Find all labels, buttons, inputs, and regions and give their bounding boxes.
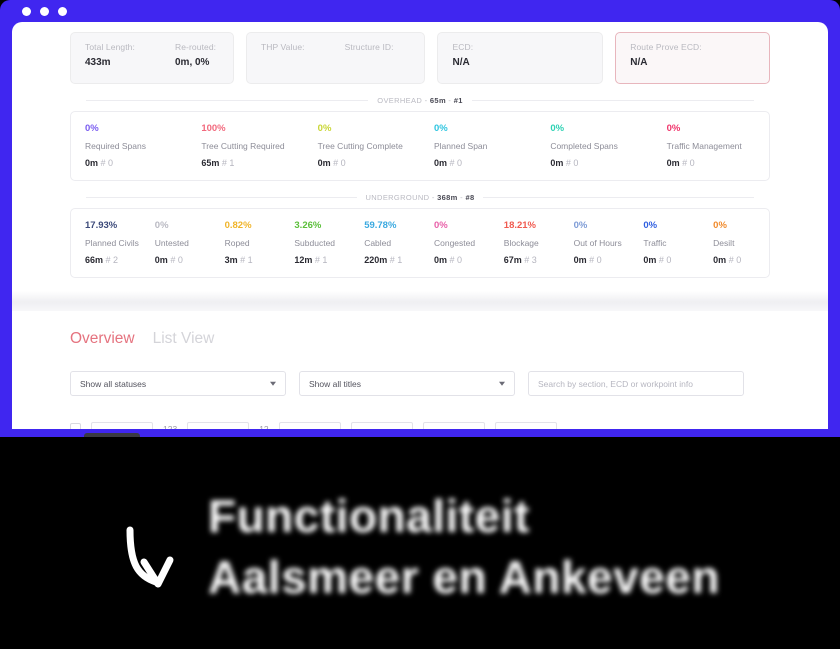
tooltip-title: WP2 xyxy=(88,436,136,437)
divider-line-left xyxy=(86,197,357,198)
search-input[interactable]: Search by section, ECD or workpoint info xyxy=(528,371,744,396)
status-filter-value: Show all statuses xyxy=(80,379,146,389)
stat-count: # 3 xyxy=(522,255,537,265)
stat-meta: 3m # 1 xyxy=(225,255,273,265)
stat-count: # 0 xyxy=(587,255,602,265)
stat-cell: 0%Untested0m # 0 xyxy=(141,220,211,265)
status-filter-select[interactable]: Show all statuses xyxy=(70,371,286,396)
thp-value-label: THP Value: xyxy=(261,42,305,52)
stat-length: 65m xyxy=(201,158,219,168)
ecd-card: ECD: N/A xyxy=(437,32,603,84)
stat-cell: 0%Planned Span0m # 0 xyxy=(420,123,536,168)
stat-meta: 0m # 0 xyxy=(667,158,761,168)
app-content: Total Length: 433m Re-routed: 0m, 0% THP… xyxy=(12,22,828,437)
ecd-value: N/A xyxy=(452,57,473,68)
stat-cell: 0%Out of Hours0m # 0 xyxy=(560,220,630,265)
route-prove-ecd-value: N/A xyxy=(630,57,702,68)
stat-label: Untested xyxy=(155,238,203,248)
stat-label: Congested xyxy=(434,238,482,248)
overhead-divider-prefix: OVERHEAD xyxy=(377,96,422,105)
structure-id-field: Structure ID: xyxy=(345,42,394,57)
stat-percentage: 0.82% xyxy=(225,220,273,231)
stat-meta: 0m # 0 xyxy=(550,158,644,168)
stat-meta: 0m # 0 xyxy=(318,158,412,168)
stat-cell: 0%Desilt0m # 0 xyxy=(699,220,769,265)
stat-count: # 1 xyxy=(238,255,253,265)
stat-percentage: 59.78% xyxy=(364,220,412,231)
stat-cell: 59.78%Cabled220m # 1 xyxy=(350,220,420,265)
window-titlebar xyxy=(0,0,840,22)
divider-line-right xyxy=(472,100,754,101)
stat-percentage: 0% xyxy=(85,123,179,134)
stat-cell: 0%Completed Spans0m # 0 xyxy=(536,123,652,168)
stat-length: 0m xyxy=(434,158,447,168)
stat-count: # 0 xyxy=(656,255,671,265)
stat-cell: 0%Required Spans0m # 0 xyxy=(71,123,187,168)
overhead-divider: OVERHEAD - 65m - #1 xyxy=(12,96,828,105)
stat-count: # 0 xyxy=(563,158,578,168)
maximize-dot-icon[interactable] xyxy=(58,7,67,16)
stat-percentage: 0% xyxy=(318,123,412,134)
stat-cell: 0%Tree Cutting Complete0m # 0 xyxy=(304,123,420,168)
stat-label: Cabled xyxy=(364,238,412,248)
route-prove-ecd-card[interactable]: Route Prove ECD: N/A xyxy=(615,32,770,84)
stat-cell: 0%Traffic Management0m # 0 xyxy=(653,123,769,168)
close-dot-icon[interactable] xyxy=(22,7,31,16)
structure-id-label: Structure ID: xyxy=(345,42,394,52)
route-prove-ecd-label: Route Prove ECD: xyxy=(630,42,702,52)
overhead-divider-label: OVERHEAD - 65m - #1 xyxy=(377,96,462,105)
section-band xyxy=(12,291,828,311)
stat-cell: 17.93%Planned Civils66m # 2 xyxy=(71,220,141,265)
overhead-divider-length: 65m xyxy=(430,96,446,105)
total-length-label: Total Length: xyxy=(85,42,135,52)
overhead-divider-count: #1 xyxy=(454,96,463,105)
stat-count: # 0 xyxy=(98,158,113,168)
chevron-down-icon xyxy=(499,381,505,385)
stat-percentage: 17.93% xyxy=(85,220,133,231)
stat-label: Blockage xyxy=(504,238,552,248)
stat-length: 0m xyxy=(155,255,168,265)
stat-count: # 0 xyxy=(680,158,695,168)
stat-count: # 0 xyxy=(447,158,462,168)
caption-line-2: Aalsmeer en Ankeveen xyxy=(208,547,720,608)
stat-label: Tree Cutting Required xyxy=(201,141,295,151)
summary-cards: Total Length: 433m Re-routed: 0m, 0% THP… xyxy=(12,22,828,84)
workpoint-tooltip: WP2 65432 , 12345 xyxy=(84,433,140,437)
search-placeholder: Search by section, ECD or workpoint info xyxy=(538,379,693,389)
stat-length: 0m xyxy=(643,255,656,265)
rerouted-value: 0m, 0% xyxy=(175,57,216,68)
stat-cell: 3.26%Subducted12m # 1 xyxy=(280,220,350,265)
divider-line-right xyxy=(483,197,754,198)
stat-count: # 1 xyxy=(387,255,402,265)
stat-label: Out of Hours xyxy=(574,238,622,248)
stat-count: # 2 xyxy=(103,255,118,265)
stat-label: Traffic Management xyxy=(667,141,761,151)
caption-text: Functionaliteit Aalsmeer en Ankeveen xyxy=(208,486,720,607)
minimize-dot-icon[interactable] xyxy=(40,7,49,16)
stat-length: 0m xyxy=(318,158,331,168)
stat-count: # 0 xyxy=(726,255,741,265)
stat-percentage: 0% xyxy=(155,220,203,231)
stat-count: # 0 xyxy=(331,158,346,168)
stat-percentage: 0% xyxy=(713,220,761,231)
stat-percentage: 0% xyxy=(434,220,482,231)
stat-label: Required Spans xyxy=(85,141,179,151)
stat-meta: 0m # 0 xyxy=(643,255,691,265)
stat-cell: 0.82%Roped3m # 1 xyxy=(211,220,281,265)
stat-cell: 0%Congested0m # 0 xyxy=(420,220,490,265)
stat-length: 220m xyxy=(364,255,387,265)
stat-percentage: 0% xyxy=(667,123,761,134)
caption-overlay: Functionaliteit Aalsmeer en Ankeveen xyxy=(0,437,840,649)
title-filter-value: Show all titles xyxy=(309,379,361,389)
stat-label: Subducted xyxy=(294,238,342,248)
thp-value-field: THP Value: xyxy=(261,42,305,57)
tab-overview[interactable]: Overview xyxy=(70,330,135,348)
ecd-label: ECD: xyxy=(452,42,473,52)
stat-label: Planned Span xyxy=(434,141,528,151)
title-filter-select[interactable]: Show all titles xyxy=(299,371,515,396)
stat-cell: 100%Tree Cutting Required65m # 1 xyxy=(187,123,303,168)
stat-length: 3m xyxy=(225,255,238,265)
stat-label: Roped xyxy=(225,238,273,248)
tab-list-view[interactable]: List View xyxy=(153,330,215,348)
filter-row: Show all statuses Show all titles Search… xyxy=(12,348,828,396)
stat-label: Traffic xyxy=(643,238,691,248)
stat-count: # 1 xyxy=(219,158,234,168)
stat-cell: 0%Traffic0m # 0 xyxy=(629,220,699,265)
stat-label: Desilt xyxy=(713,238,761,248)
stat-length: 66m xyxy=(85,255,103,265)
overhead-stats-panel: 0%Required Spans0m # 0100%Tree Cutting R… xyxy=(70,111,770,181)
stat-meta: 67m # 3 xyxy=(504,255,552,265)
stat-length: 0m xyxy=(667,158,680,168)
stat-meta: 0m # 0 xyxy=(155,255,203,265)
stat-percentage: 0% xyxy=(643,220,691,231)
stat-length: 12m xyxy=(294,255,312,265)
curved-arrow-icon xyxy=(120,524,182,605)
view-tabs: Overview List View xyxy=(12,311,828,348)
thp-card: THP Value: Structure ID: xyxy=(246,32,426,84)
stat-label: Tree Cutting Complete xyxy=(318,141,412,151)
rerouted-label: Re-routed: xyxy=(175,42,216,52)
stat-label: Planned Civils xyxy=(85,238,133,248)
underground-divider-prefix: UNDERGROUND xyxy=(366,193,430,202)
stat-length: 0m xyxy=(713,255,726,265)
stat-length: 67m xyxy=(504,255,522,265)
length-card: Total Length: 433m Re-routed: 0m, 0% xyxy=(70,32,234,84)
stat-cell: 18.21%Blockage67m # 3 xyxy=(490,220,560,265)
stat-meta: 0m # 0 xyxy=(574,255,622,265)
stat-percentage: 18.21% xyxy=(504,220,552,231)
stat-meta: 65m # 1 xyxy=(201,158,295,168)
underground-divider-label: UNDERGROUND - 368m - #8 xyxy=(366,193,475,202)
stat-count: # 1 xyxy=(312,255,327,265)
ecd-field: ECD: N/A xyxy=(452,42,473,68)
underground-stats-panel: 17.93%Planned Civils66m # 20%Untested0m … xyxy=(70,208,770,278)
total-length-value: 433m xyxy=(85,57,135,68)
rerouted-field: Re-routed: 0m, 0% xyxy=(175,42,216,68)
stat-percentage: 100% xyxy=(201,123,295,134)
stat-count: # 0 xyxy=(168,255,183,265)
stat-length: 0m xyxy=(550,158,563,168)
stat-percentage: 0% xyxy=(434,123,528,134)
browser-window: Total Length: 433m Re-routed: 0m, 0% THP… xyxy=(0,0,840,437)
stat-length: 0m xyxy=(85,158,98,168)
stat-meta: 220m # 1 xyxy=(364,255,412,265)
stat-meta: 0m # 0 xyxy=(713,255,761,265)
underground-divider: UNDERGROUND - 368m - #8 xyxy=(12,193,828,202)
stat-percentage: 0% xyxy=(550,123,644,134)
chevron-down-icon xyxy=(270,381,276,385)
window-controls xyxy=(22,7,67,16)
stat-meta: 66m # 2 xyxy=(85,255,133,265)
underground-divider-count: #8 xyxy=(465,193,474,202)
stat-meta: 12m # 1 xyxy=(294,255,342,265)
stat-length: 0m xyxy=(434,255,447,265)
caption-line-1: Functionaliteit xyxy=(208,490,530,542)
stat-meta: 0m # 0 xyxy=(434,158,528,168)
stat-length: 0m xyxy=(574,255,587,265)
stat-meta: 0m # 0 xyxy=(85,158,179,168)
divider-line-left xyxy=(86,100,368,101)
total-length-field: Total Length: 433m xyxy=(85,42,135,68)
stat-meta: 0m # 0 xyxy=(434,255,482,265)
stat-label: Completed Spans xyxy=(550,141,644,151)
route-prove-ecd-field: Route Prove ECD: N/A xyxy=(630,42,702,68)
stat-percentage: 0% xyxy=(574,220,622,231)
stat-count: # 0 xyxy=(447,255,462,265)
stat-percentage: 3.26% xyxy=(294,220,342,231)
underground-divider-length: 368m xyxy=(437,193,458,202)
